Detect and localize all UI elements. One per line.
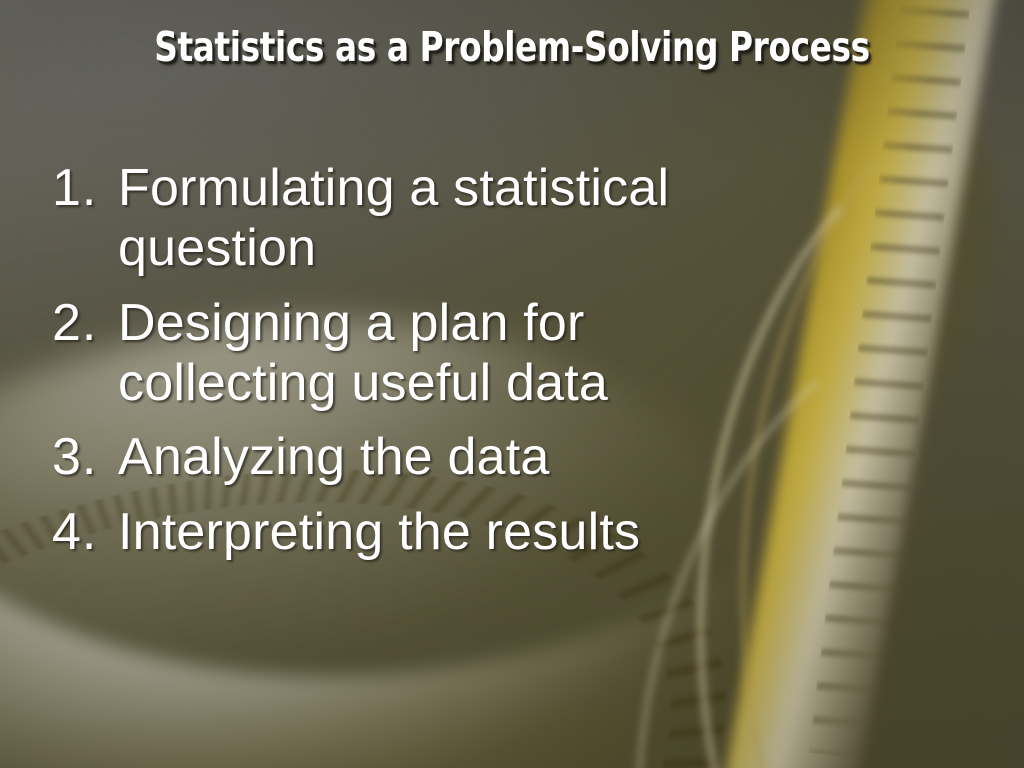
slide-content: Statistics as a Problem-Solving Process … <box>0 0 1024 768</box>
list-item: 2. Designing a plan for collecting usefu… <box>52 293 812 414</box>
list-item: 1. Formulating a statistical question <box>52 158 812 279</box>
step-number: 2. <box>52 293 118 353</box>
step-text: Formulating a statistical question <box>118 158 812 279</box>
step-number: 4. <box>52 502 118 562</box>
step-number: 3. <box>52 427 118 487</box>
list-item: 3. Analyzing the data <box>52 427 812 487</box>
process-steps-list: 1. Formulating a statistical question 2.… <box>52 158 812 576</box>
step-text: Analyzing the data <box>118 427 812 487</box>
presentation-slide: Statistics as a Problem-Solving Process … <box>0 0 1024 768</box>
step-text: Interpreting the results <box>118 502 812 562</box>
list-item: 4. Interpreting the results <box>52 502 812 562</box>
slide-title: Statistics as a Problem-Solving Process <box>102 23 921 71</box>
step-text: Designing a plan for collecting useful d… <box>118 293 812 414</box>
step-number: 1. <box>52 158 118 218</box>
